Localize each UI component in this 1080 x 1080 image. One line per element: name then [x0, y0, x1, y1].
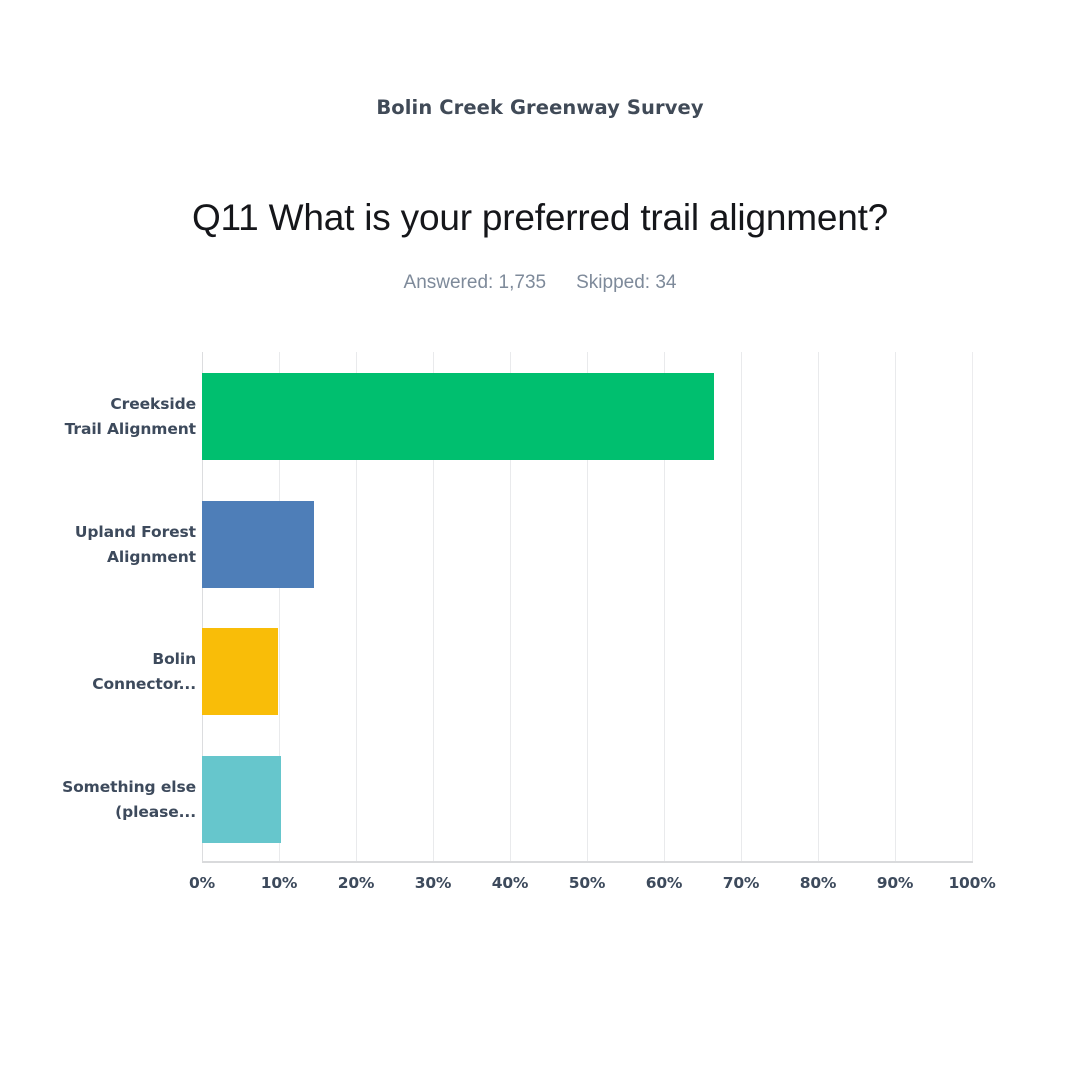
y-axis-label-line: (please...: [0, 800, 196, 825]
x-axis-tick-90%: 90%: [855, 874, 935, 892]
x-axis-tick-40%: 40%: [470, 874, 550, 892]
y-axis-label-line: Upland Forest: [0, 520, 196, 545]
x-axis-line: [202, 861, 973, 863]
x-axis-tick-0%: 0%: [162, 874, 242, 892]
x-axis-tick-80%: 80%: [778, 874, 858, 892]
gridline-80%: [818, 352, 819, 862]
y-axis-label-line: Connector...: [0, 672, 196, 697]
y-axis-label-2: BolinConnector...: [0, 647, 196, 697]
x-axis-tick-30%: 30%: [393, 874, 473, 892]
gridline-100%: [972, 352, 973, 862]
bar-3[interactable]: [202, 756, 281, 843]
y-axis-label-line: Trail Alignment: [0, 417, 196, 442]
bar-2[interactable]: [202, 628, 278, 715]
chart-page: Bolin Creek Greenway Survey Q11 What is …: [0, 0, 1080, 1080]
y-axis-label-line: Alignment: [0, 545, 196, 570]
x-axis-tick-70%: 70%: [701, 874, 781, 892]
bar-chart: CreeksideTrail AlignmentUpland ForestAli…: [0, 0, 1080, 1080]
x-axis-tick-20%: 20%: [316, 874, 396, 892]
gridline-90%: [895, 352, 896, 862]
gridline-70%: [741, 352, 742, 862]
y-axis-label-0: CreeksideTrail Alignment: [0, 392, 196, 442]
y-axis-label-3: Something else(please...: [0, 775, 196, 825]
x-axis-tick-10%: 10%: [239, 874, 319, 892]
y-axis-label-line: Bolin: [0, 647, 196, 672]
y-axis-label-line: Something else: [0, 775, 196, 800]
y-axis-label-line: Creekside: [0, 392, 196, 417]
x-axis-tick-50%: 50%: [547, 874, 627, 892]
plot-area: [202, 352, 972, 862]
x-axis-tick-100%: 100%: [932, 874, 1012, 892]
y-axis-label-1: Upland ForestAlignment: [0, 520, 196, 570]
bar-1[interactable]: [202, 501, 314, 588]
bar-0[interactable]: [202, 373, 714, 460]
x-axis-tick-60%: 60%: [624, 874, 704, 892]
